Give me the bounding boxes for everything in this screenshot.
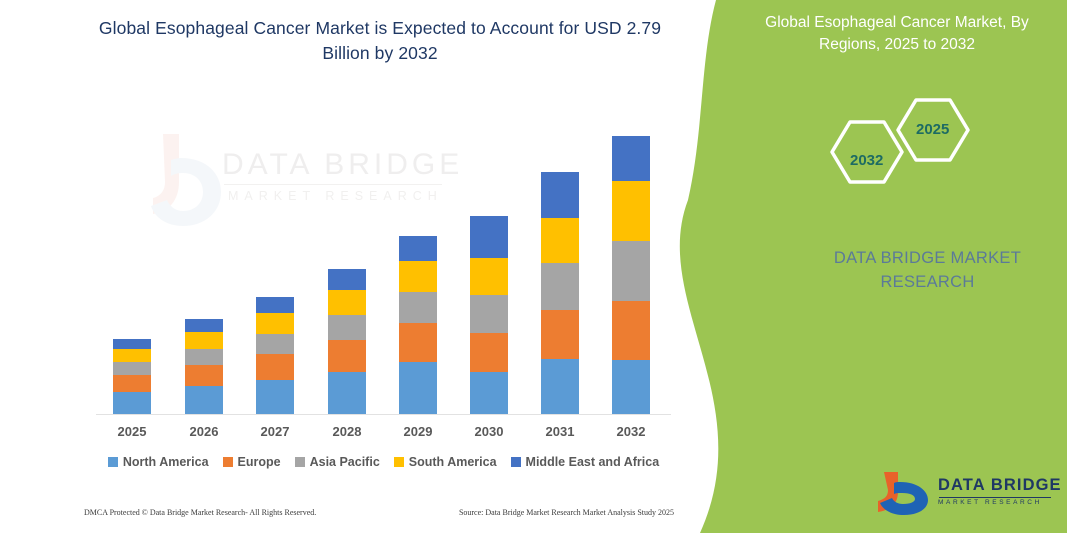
stacked-bar-chart [96, 120, 671, 415]
bar-segment-asia-pacific[interactable] [185, 349, 223, 365]
bar-segment-europe[interactable] [256, 354, 294, 380]
bar-segment-south-america[interactable] [612, 181, 650, 241]
bar-segment-south-america[interactable] [541, 218, 579, 263]
logo-wordmark: DATA BRIDGE MARKET RESEARCH [938, 476, 1062, 506]
x-axis-labels: 20252026202720282029203020312032 [96, 424, 671, 444]
hexagon-group: 2032 2025 [820, 92, 985, 202]
bar-segment-middle-east-and-africa[interactable] [256, 297, 294, 313]
infographic-canvas: Global Esophageal Cancer Market is Expec… [0, 0, 1067, 533]
bar-segment-europe[interactable] [612, 301, 650, 360]
x-axis-label-2029: 2029 [382, 424, 454, 439]
x-axis-line [96, 414, 671, 415]
bar-segment-north-america[interactable] [113, 392, 151, 414]
x-axis-label-2026: 2026 [168, 424, 240, 439]
footer: DMCA Protected © Data Bridge Market Rese… [84, 508, 674, 517]
bar-segment-south-america[interactable] [185, 332, 223, 349]
x-axis-label-2027: 2027 [239, 424, 311, 439]
bar-2026[interactable] [185, 319, 223, 414]
bar-segment-asia-pacific[interactable] [113, 362, 151, 375]
legend-label: North America [123, 455, 209, 469]
legend-swatch-icon [394, 457, 404, 467]
legend-swatch-icon [223, 457, 233, 467]
legend-item-middle-east-and-africa[interactable]: Middle East and Africa [511, 455, 660, 469]
bar-segment-europe[interactable] [470, 333, 508, 372]
legend-item-south-america[interactable]: South America [394, 455, 497, 469]
bar-segment-north-america[interactable] [185, 386, 223, 414]
legend-label: Europe [238, 455, 281, 469]
x-axis-label-2028: 2028 [311, 424, 383, 439]
bar-segment-north-america[interactable] [328, 372, 366, 414]
bar-segment-south-america[interactable] [328, 290, 366, 315]
legend-item-europe[interactable]: Europe [223, 455, 281, 469]
bar-2027[interactable] [256, 297, 294, 414]
bar-segment-south-america[interactable] [399, 261, 437, 292]
bar-segment-south-america[interactable] [256, 313, 294, 334]
x-axis-label-2031: 2031 [524, 424, 596, 439]
bar-segment-middle-east-and-africa[interactable] [470, 216, 508, 258]
x-axis-label-2032: 2032 [595, 424, 667, 439]
bar-segment-south-america[interactable] [113, 349, 151, 362]
legend-label: South America [409, 455, 497, 469]
bar-segment-middle-east-and-africa[interactable] [113, 339, 151, 349]
bar-segment-middle-east-and-africa[interactable] [399, 236, 437, 261]
bar-segment-europe[interactable] [541, 310, 579, 359]
bar-segment-north-america[interactable] [541, 359, 579, 414]
legend-label: Asia Pacific [310, 455, 380, 469]
bar-2032[interactable] [612, 136, 650, 414]
bar-2030[interactable] [470, 216, 508, 414]
bar-segment-middle-east-and-africa[interactable] [185, 319, 223, 332]
bar-segment-europe[interactable] [185, 365, 223, 386]
bar-segment-europe[interactable] [113, 375, 151, 392]
bar-segment-north-america[interactable] [399, 362, 437, 414]
legend-swatch-icon [295, 457, 305, 467]
bar-2029[interactable] [399, 236, 437, 414]
bar-segment-europe[interactable] [328, 340, 366, 372]
bar-segment-asia-pacific[interactable] [470, 295, 508, 333]
bar-2031[interactable] [541, 172, 579, 414]
legend-item-north-america[interactable]: North America [108, 455, 209, 469]
chart-legend: North AmericaEuropeAsia PacificSouth Ame… [96, 455, 671, 469]
bar-2025[interactable] [113, 339, 151, 414]
bar-segment-asia-pacific[interactable] [399, 292, 437, 323]
bar-segment-north-america[interactable] [256, 380, 294, 414]
bar-segment-north-america[interactable] [470, 372, 508, 414]
hexagon-label-2025: 2025 [916, 121, 949, 138]
legend-swatch-icon [511, 457, 521, 467]
legend-item-asia-pacific[interactable]: Asia Pacific [295, 455, 380, 469]
brand-name: DATA BRIDGE MARKET RESEARCH [795, 246, 1060, 294]
page-title: Global Esophageal Cancer Market is Expec… [80, 16, 680, 66]
legend-swatch-icon [108, 457, 118, 467]
bar-segment-asia-pacific[interactable] [612, 241, 650, 301]
bar-segment-middle-east-and-africa[interactable] [541, 172, 579, 218]
bar-2028[interactable] [328, 269, 366, 414]
bar-segment-middle-east-and-africa[interactable] [612, 136, 650, 181]
footer-copyright: DMCA Protected © Data Bridge Market Rese… [84, 508, 316, 517]
bar-segment-middle-east-and-africa[interactable] [328, 269, 366, 290]
x-axis-label-2030: 2030 [453, 424, 525, 439]
bar-segment-south-america[interactable] [470, 258, 508, 295]
legend-label: Middle East and Africa [526, 455, 660, 469]
bar-segment-asia-pacific[interactable] [541, 263, 579, 310]
bar-segment-europe[interactable] [399, 323, 437, 362]
panel-title: Global Esophageal Cancer Market, By Regi… [762, 12, 1032, 56]
logo-divider [939, 497, 1051, 498]
footer-source: Source: Data Bridge Market Research Mark… [459, 508, 674, 517]
bar-segment-asia-pacific[interactable] [256, 334, 294, 354]
bar-segment-asia-pacific[interactable] [328, 315, 366, 340]
logo-main-text: DATA BRIDGE [938, 476, 1062, 495]
logo-sub-text: MARKET RESEARCH [938, 499, 1062, 506]
bar-segment-north-america[interactable] [612, 360, 650, 414]
x-axis-label-2025: 2025 [96, 424, 168, 439]
hexagon-label-2032: 2032 [850, 152, 883, 169]
